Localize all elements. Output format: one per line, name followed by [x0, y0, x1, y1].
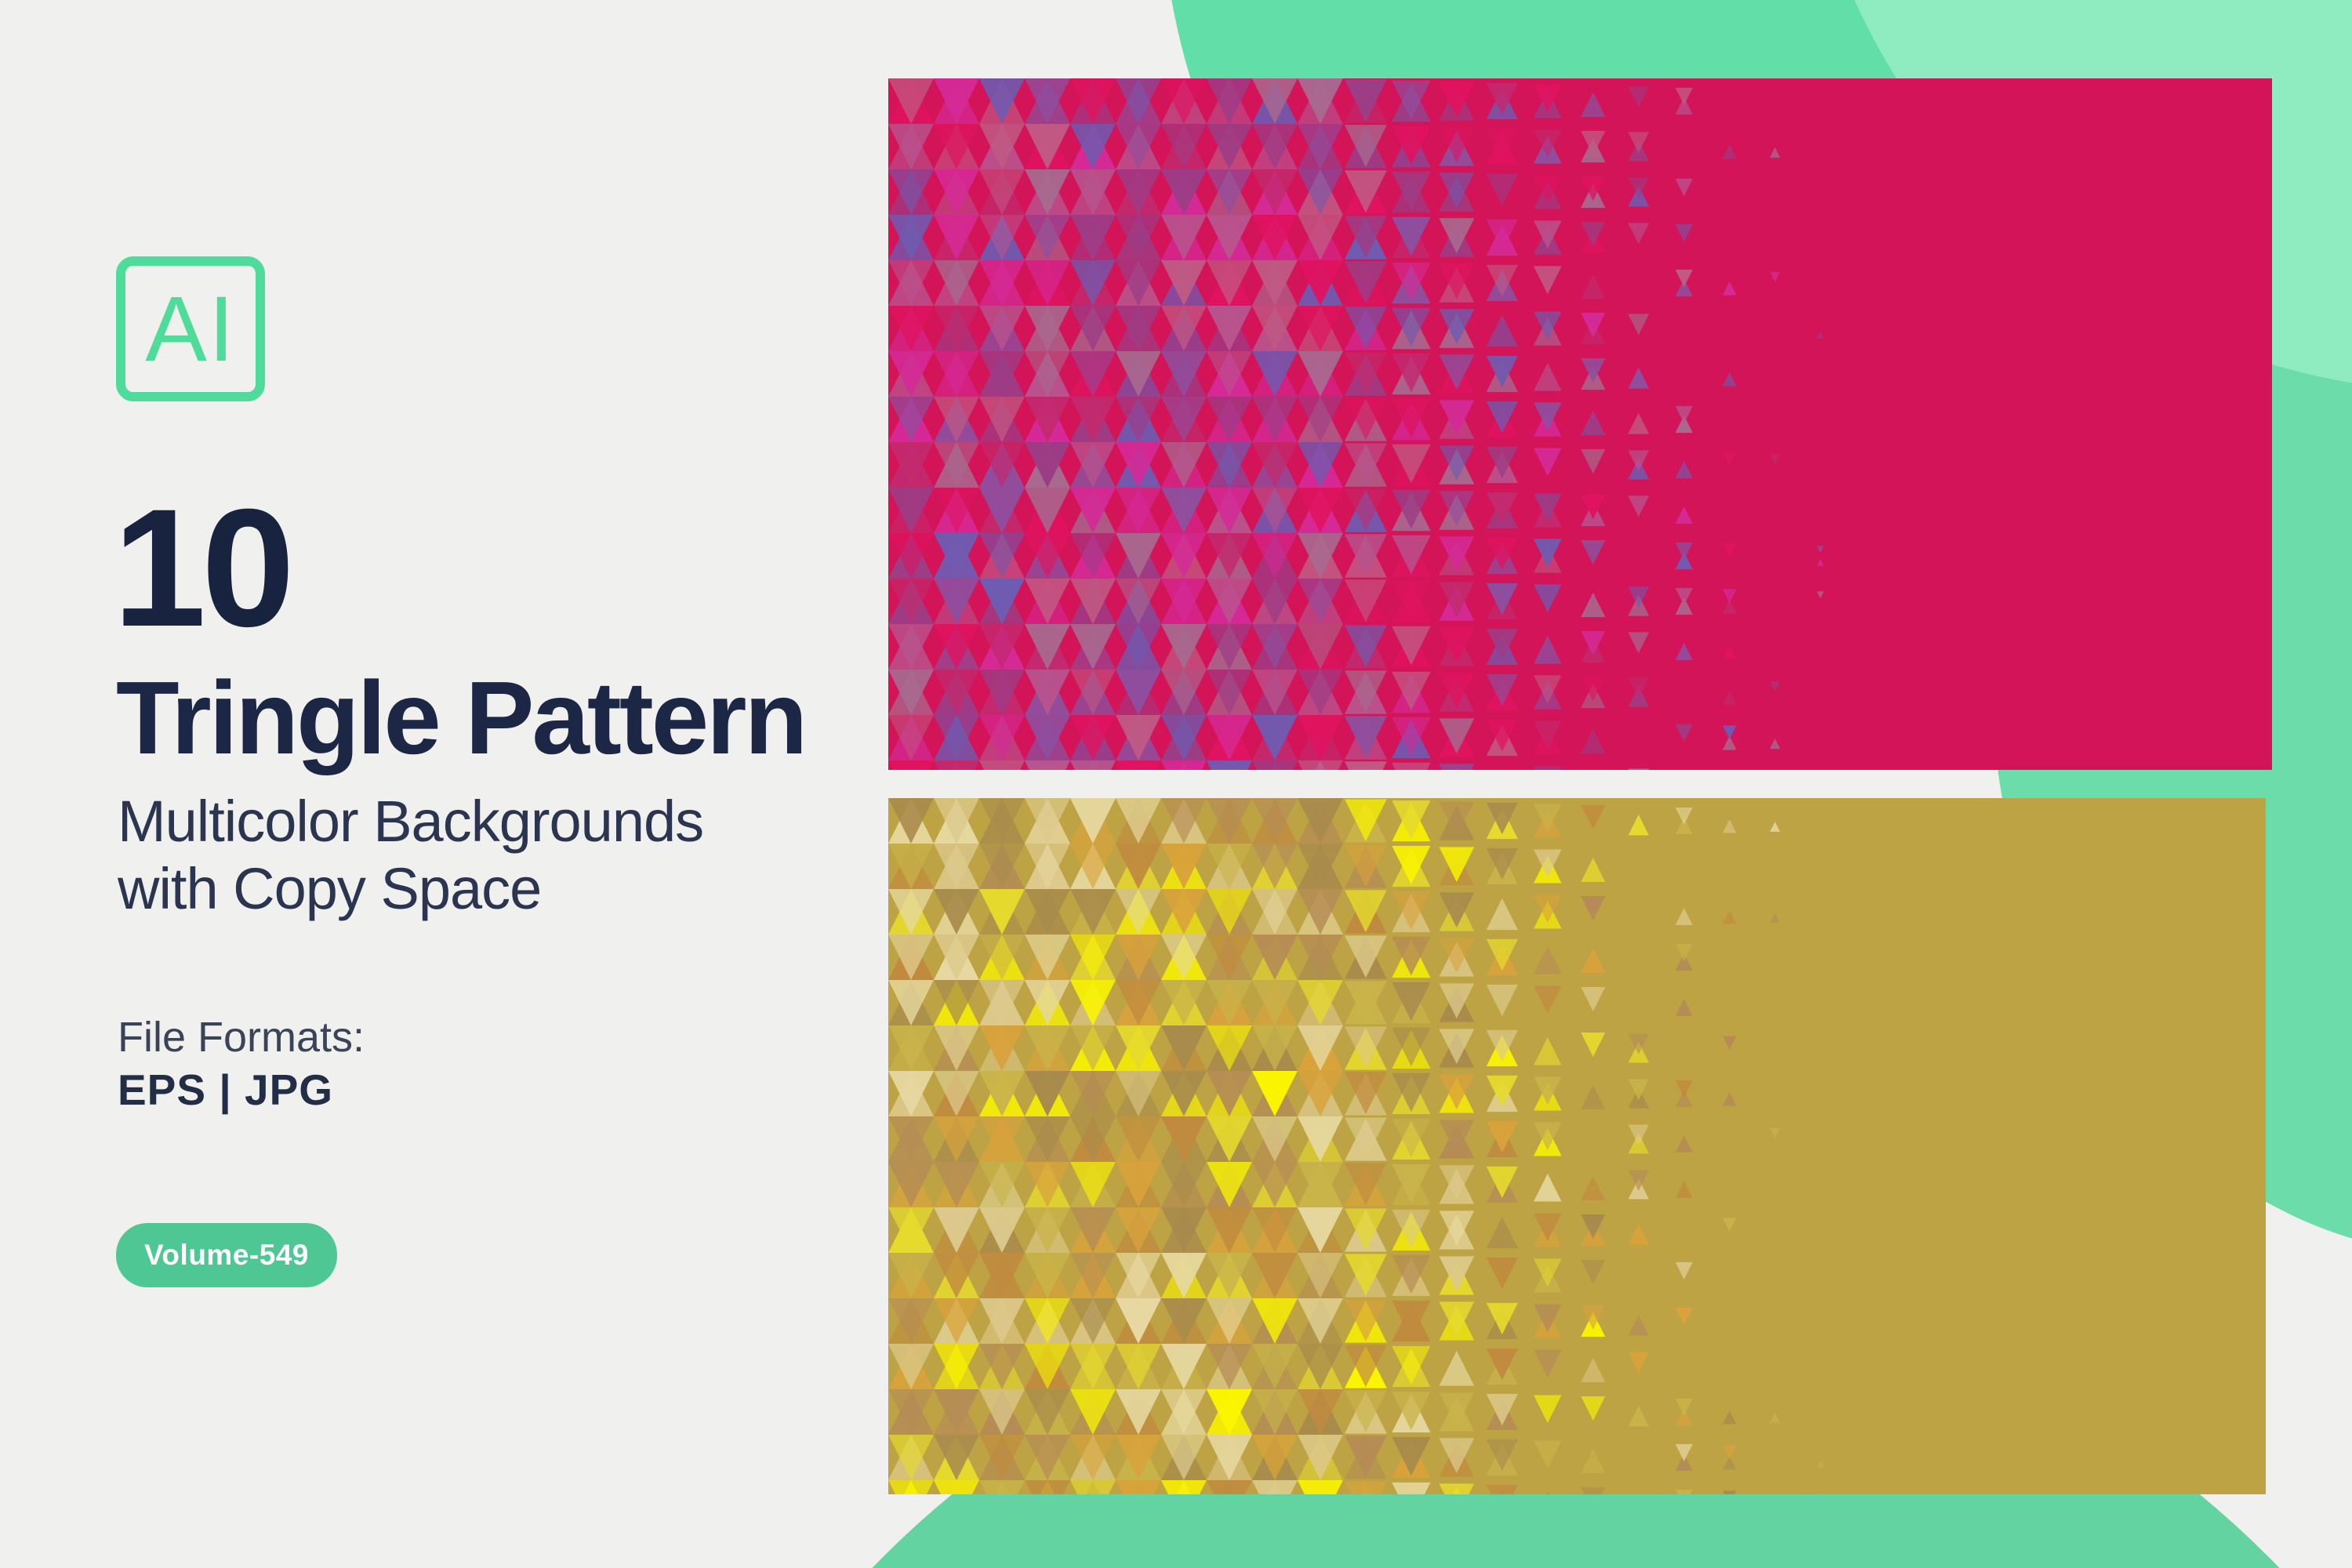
file-formats-label: File Formats: [118, 1013, 365, 1062]
volume-badge: Volume-549 [116, 1223, 337, 1287]
page-title-count: 10 [113, 485, 290, 652]
preview-pink-triangle-pattern [888, 78, 2272, 770]
preview-yellow-triangle-pattern [888, 798, 2266, 1494]
pink-triangle-artwork [888, 78, 2272, 770]
file-formats-value: EPS | JPG [118, 1065, 333, 1115]
page-subtitle-line-2: with Copy Space [118, 855, 823, 923]
poster-canvas: AI 10 Tringle Pattern Multicolor Backgro… [0, 0, 2352, 1568]
adobe-illustrator-badge-label: AI [125, 283, 256, 376]
page-subtitle: Multicolor Backgrounds with Copy Space [118, 788, 823, 923]
adobe-illustrator-badge: AI [116, 256, 265, 401]
info-column: AI 10 Tringle Pattern Multicolor Backgro… [116, 0, 861, 1568]
page-subtitle-line-1: Multicolor Backgrounds [118, 788, 823, 855]
page-title: Tringle Pattern [116, 666, 805, 770]
yellow-triangle-artwork [888, 798, 2266, 1494]
